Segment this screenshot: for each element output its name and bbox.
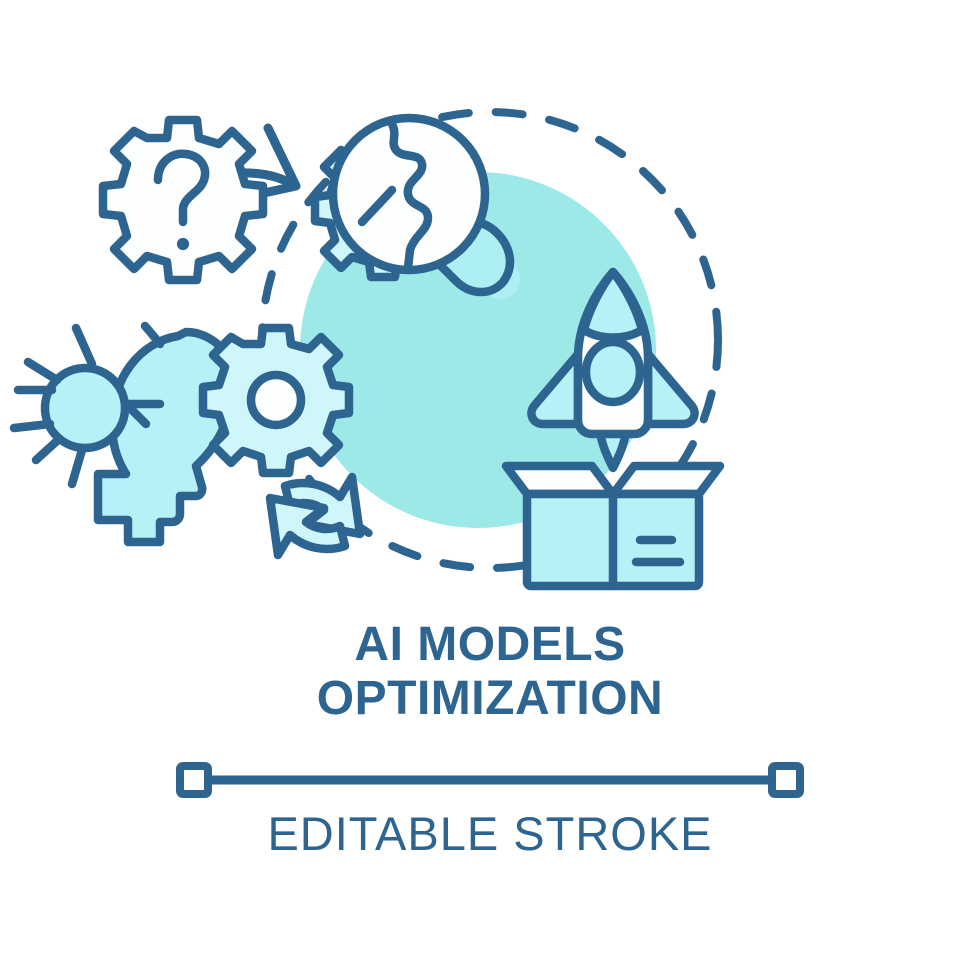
title-line-2: OPTIMIZATION [0, 672, 980, 726]
title-line-1: AI MODELS [0, 618, 980, 672]
concept-icon-card: AI MODELS OPTIMIZATION EDITABLE STROKE [0, 0, 980, 980]
stroke-rule-svg [0, 756, 980, 804]
square-handle-left[interactable] [180, 766, 208, 794]
editable-stroke-rule [0, 756, 980, 804]
gear-settings-icon [203, 328, 349, 473]
footer-area: EDITABLE STROKE [0, 806, 980, 862]
page-title: AI MODELS OPTIMIZATION [0, 618, 980, 726]
square-handle-right[interactable] [772, 766, 800, 794]
concept-illustration-svg [0, 72, 980, 592]
editable-stroke-label: EDITABLE STROKE [0, 806, 980, 862]
refresh-cycle-icon [270, 477, 360, 555]
ai-head-neuron-icon [14, 326, 234, 542]
open-box-icon [506, 466, 720, 586]
illustration-area [0, 72, 980, 592]
gear-question-icon [103, 120, 329, 280]
